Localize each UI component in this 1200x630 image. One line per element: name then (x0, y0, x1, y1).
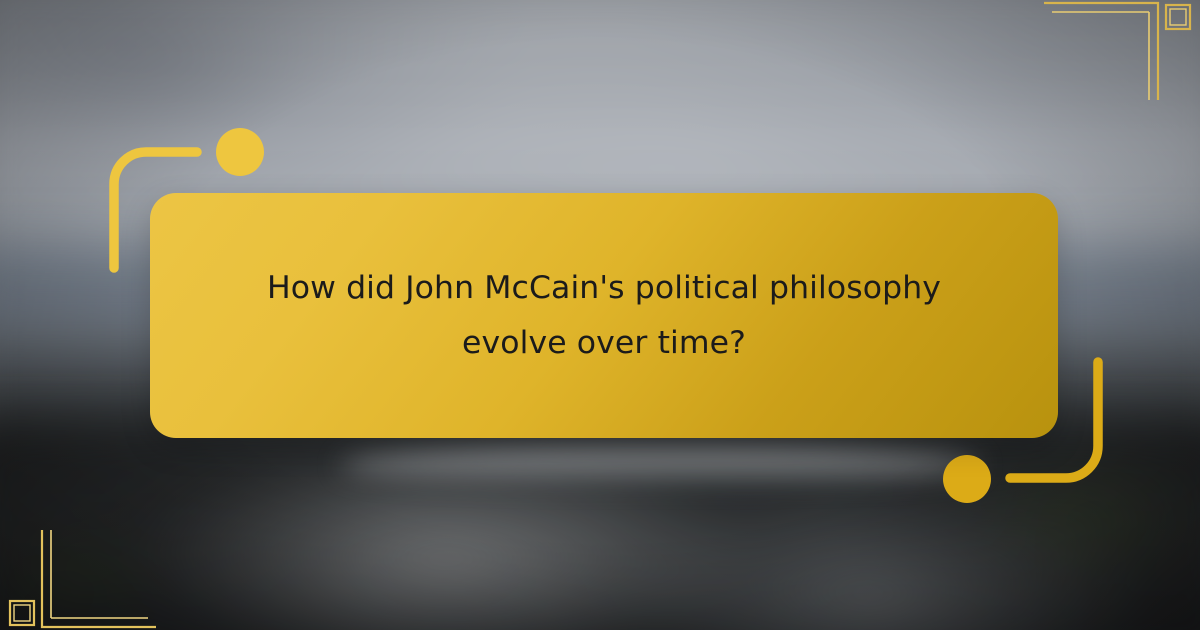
question-card: How did John McCain's political philosop… (150, 193, 1058, 438)
poster-canvas: How did John McCain's political philosop… (0, 0, 1200, 630)
decorative-dot-bottom-right (943, 455, 991, 503)
question-text: How did John McCain's political philosop… (239, 261, 969, 369)
decorative-dot-top-left (216, 128, 264, 176)
